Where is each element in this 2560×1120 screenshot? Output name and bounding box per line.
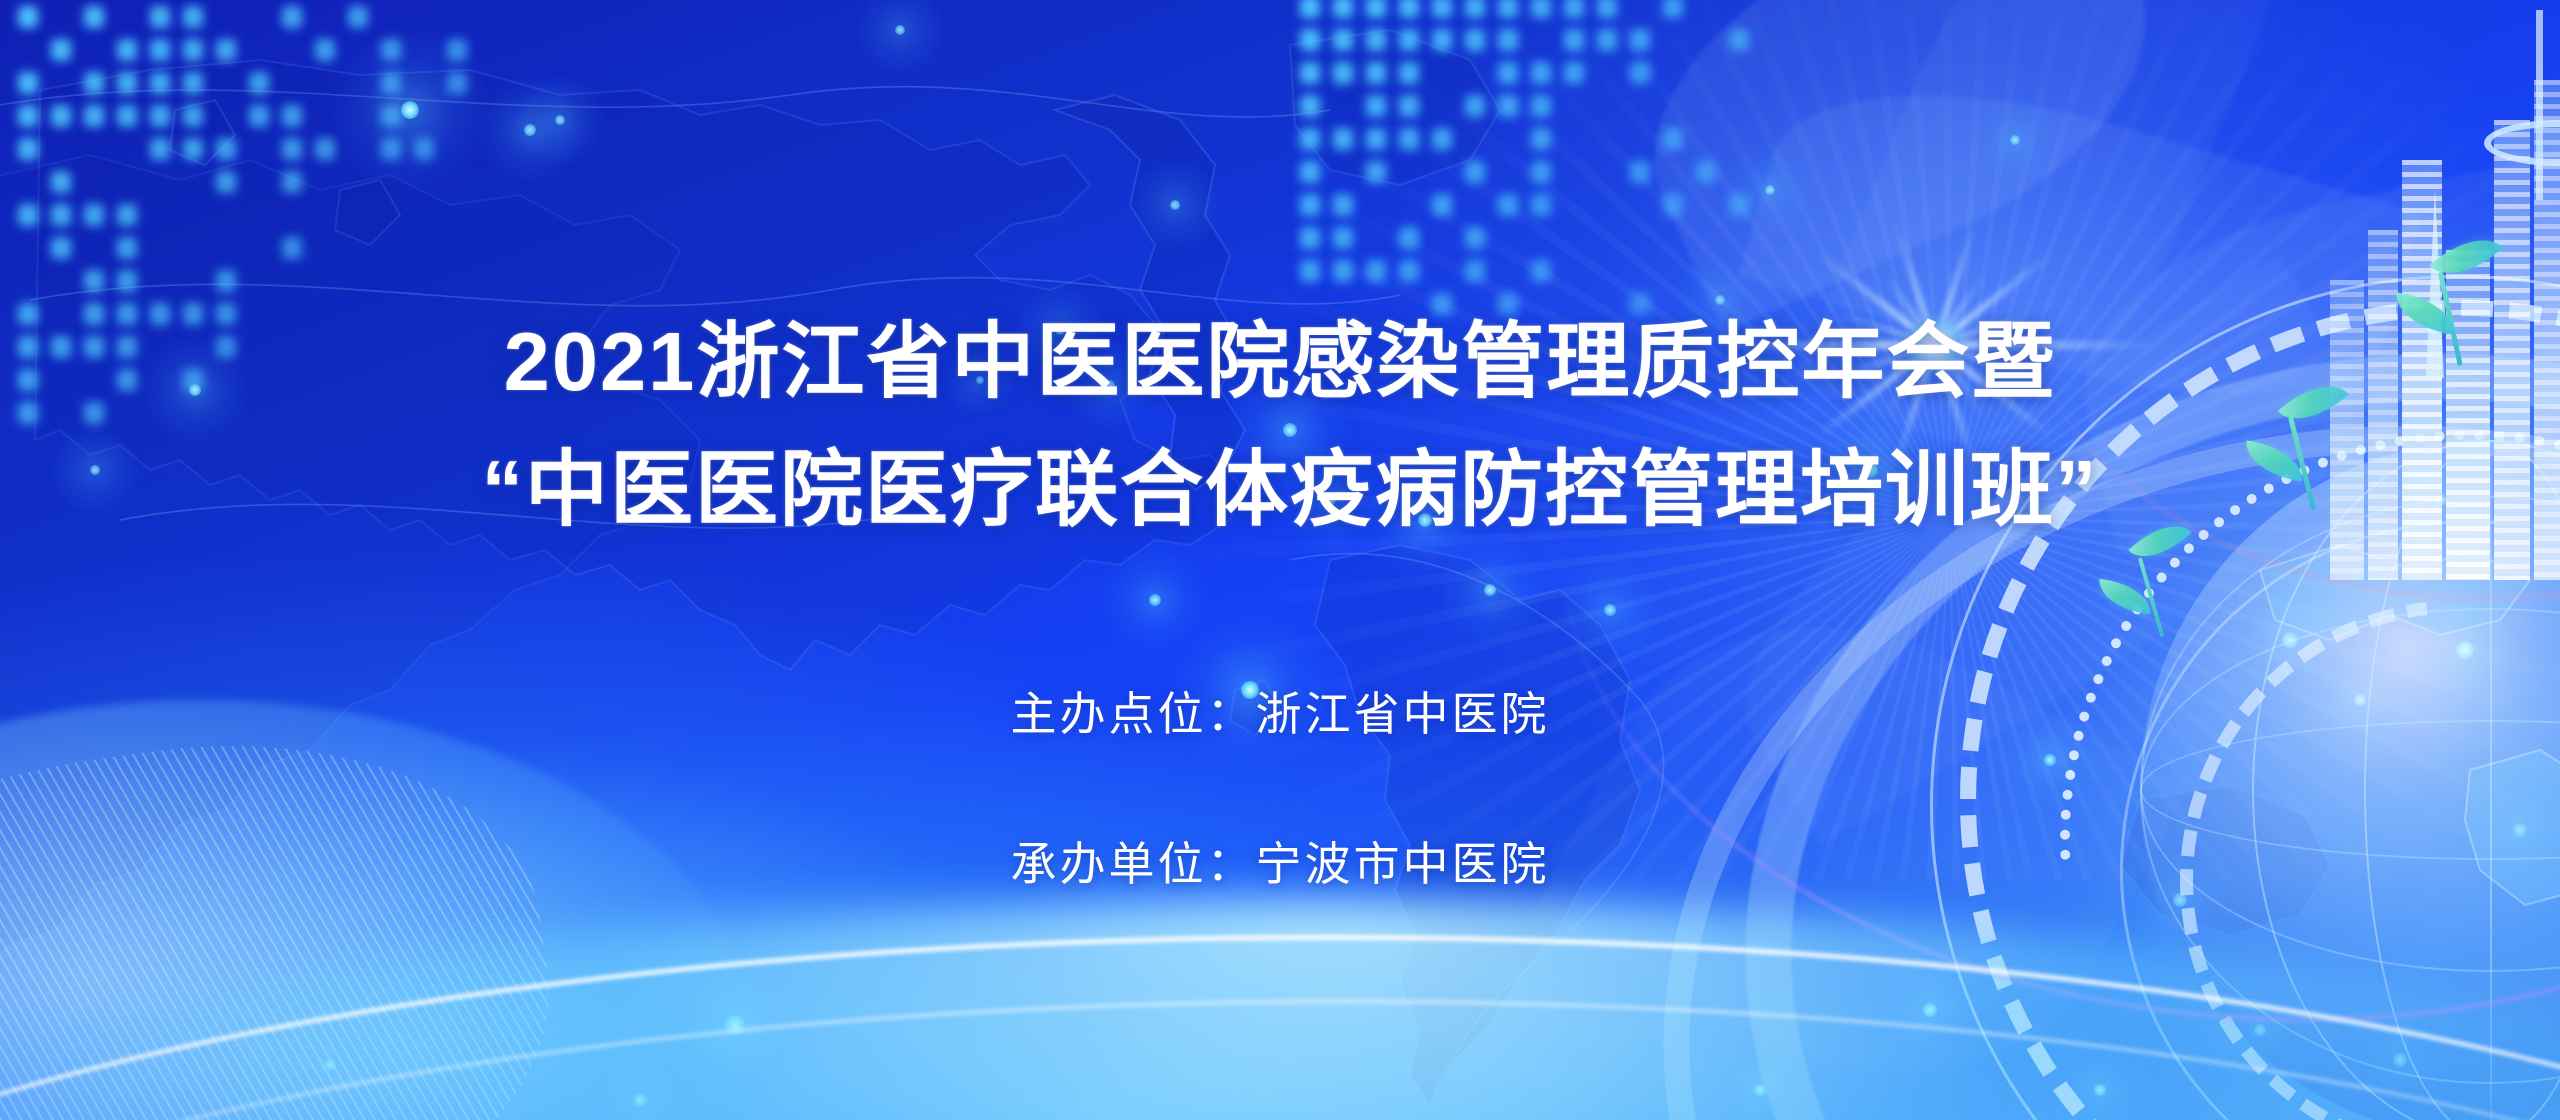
banner-organizer-line: 主办点位：浙江省中医院 xyxy=(0,678,2560,744)
banner-title-line-1: 2021浙江省中医医院感染管理质控年会暨 xyxy=(0,320,2560,403)
banner-title-line-2: “中医医院医疗联合体疫病防控管理培训班” xyxy=(0,448,2560,531)
conference-banner: 2021浙江省中医医院感染管理质控年会暨 “中医医院医疗联合体疫病防控管理培训班… xyxy=(0,0,2560,1120)
banner-host-line: 承办单位：宁波市中医院 xyxy=(0,828,2560,894)
